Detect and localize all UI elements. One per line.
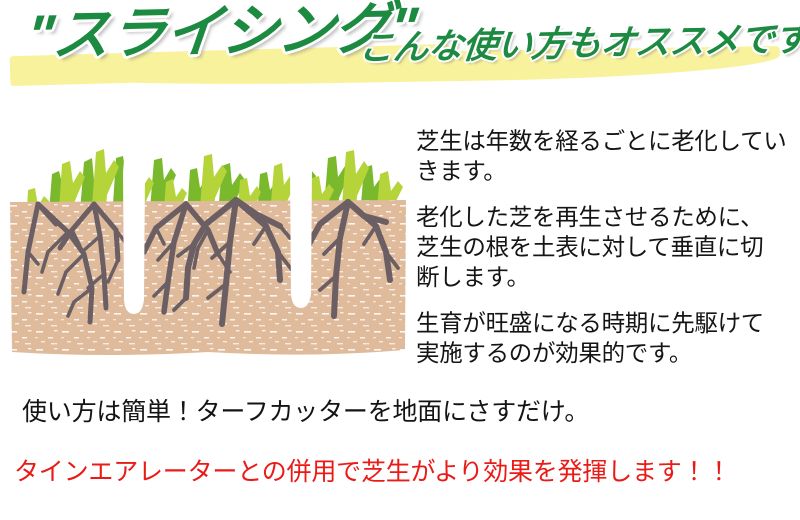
footer-usage-line: 使い方は簡単！ターフカッターを地面にさすだけ。 [22, 392, 589, 428]
turf-cross-section-illustration [8, 112, 408, 364]
slicing-cut-1 [123, 137, 145, 314]
slicing-cut-2 [290, 133, 312, 308]
footer-highlight-line: タインエアレーターとの併用で芝生がより効果を発揮します！！ [14, 452, 731, 488]
description-paragraph-2: 老化した芝を再生させるために、 芝生の根を土表に対して垂直に切 断します。 [416, 202, 794, 292]
title-group: "スライシング" こんな使い方もオススメです！ [0, 0, 800, 105]
promo-banner: "スライシング" こんな使い方もオススメです！ [0, 0, 800, 520]
description-text-block: 芝生は年数を経るごとに老化してい きます。 老化した芝を再生させるために、 芝生… [416, 126, 794, 369]
description-paragraph-3: 生育が旺盛になる時期に先駆けて 実施するのが効果的です。 [416, 308, 794, 368]
description-paragraph-1: 芝生は年数を経るごとに老化してい きます。 [416, 126, 794, 186]
page-subtitle: こんな使い方もオススメです！ [357, 21, 800, 66]
turf-diagram-svg [8, 112, 408, 364]
banner-header: "スライシング" こんな使い方もオススメです！ [0, 0, 800, 105]
